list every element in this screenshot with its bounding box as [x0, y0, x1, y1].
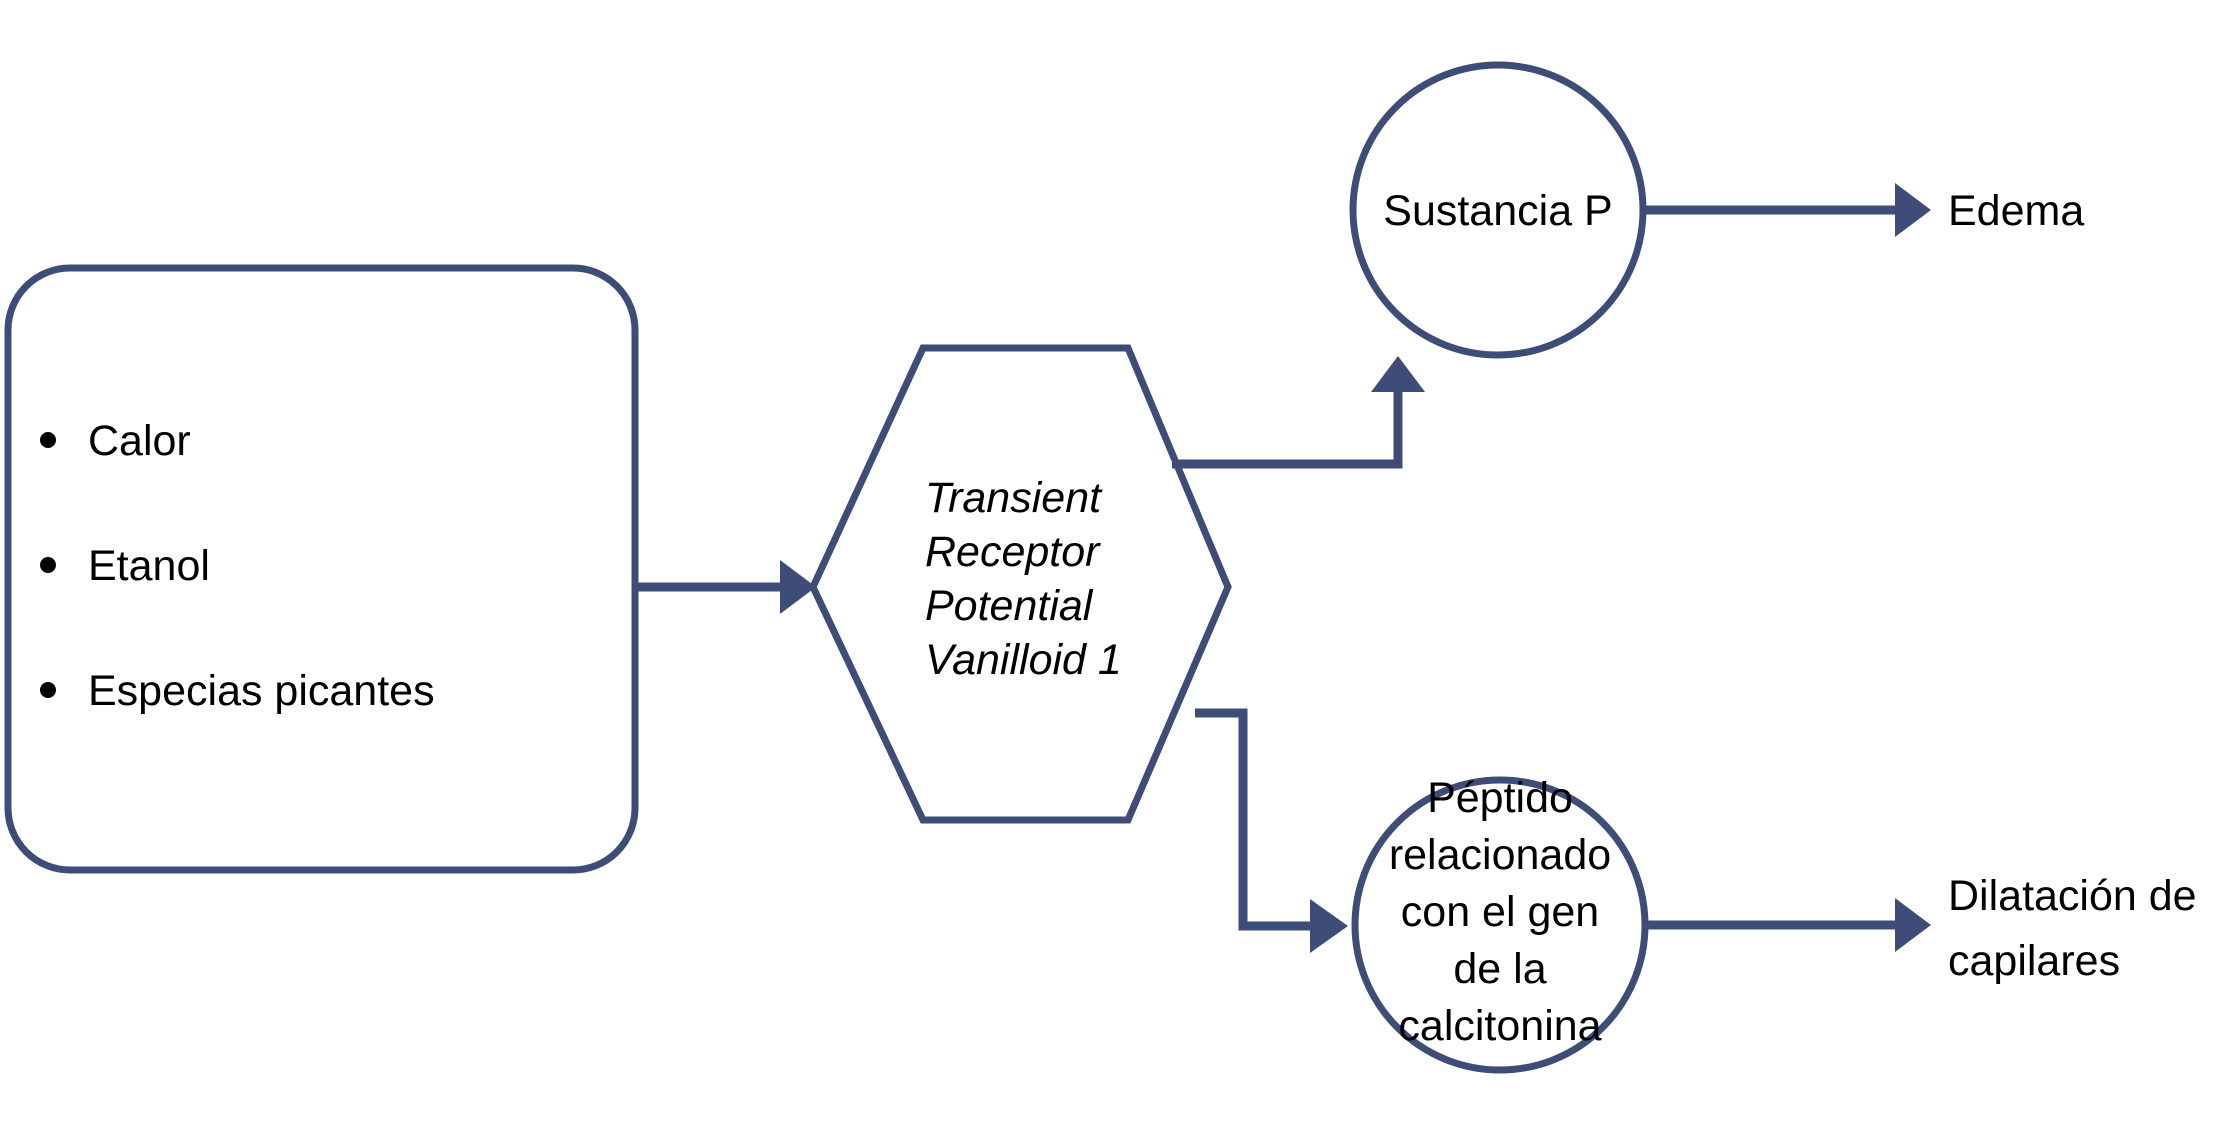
cgrp-label-line: calcitonina	[1398, 1002, 1601, 1050]
diagram-canvas: Calor Etanol Especias picantes Transient…	[0, 0, 2216, 1122]
stimuli-item-label: Calor	[88, 417, 191, 465]
flowchart-svg: Calor Etanol Especias picantes Transient…	[0, 0, 2216, 1122]
cgrp-label-line: Péptido	[1427, 774, 1573, 822]
receptor-label-line: Potential	[925, 582, 1094, 630]
cgrp-label-line: con el gen	[1401, 888, 1599, 936]
receptor-label-line: Transient	[925, 474, 1103, 522]
dilatacion-label-line: capilares	[1948, 937, 2120, 985]
bullet-dot-icon	[40, 557, 56, 573]
connector-receptor-to-cgrp	[1195, 713, 1310, 926]
bullet-dot-icon	[40, 432, 56, 448]
receptor-label-line: Vanilloid 1	[925, 636, 1122, 684]
stimuli-item-label: Especias picantes	[88, 667, 435, 715]
cgrp-label-line: relacionado	[1389, 831, 1611, 879]
edema-label: Edema	[1948, 187, 2084, 235]
substance-p-label: Sustancia P	[1383, 187, 1612, 235]
receptor-label-line: Receptor	[925, 528, 1101, 576]
bullet-dot-icon	[40, 682, 56, 698]
arrowhead-icon	[1371, 356, 1425, 392]
dilatacion-label-line: Dilatación de	[1948, 872, 2197, 920]
arrowhead-icon	[1895, 183, 1931, 237]
arrowhead-icon	[1310, 899, 1348, 953]
stimuli-item-label: Etanol	[88, 542, 210, 590]
cgrp-label-line: de la	[1453, 945, 1546, 993]
arrowhead-icon	[1895, 898, 1931, 952]
connector-receptor-to-substance-p	[1172, 390, 1398, 464]
